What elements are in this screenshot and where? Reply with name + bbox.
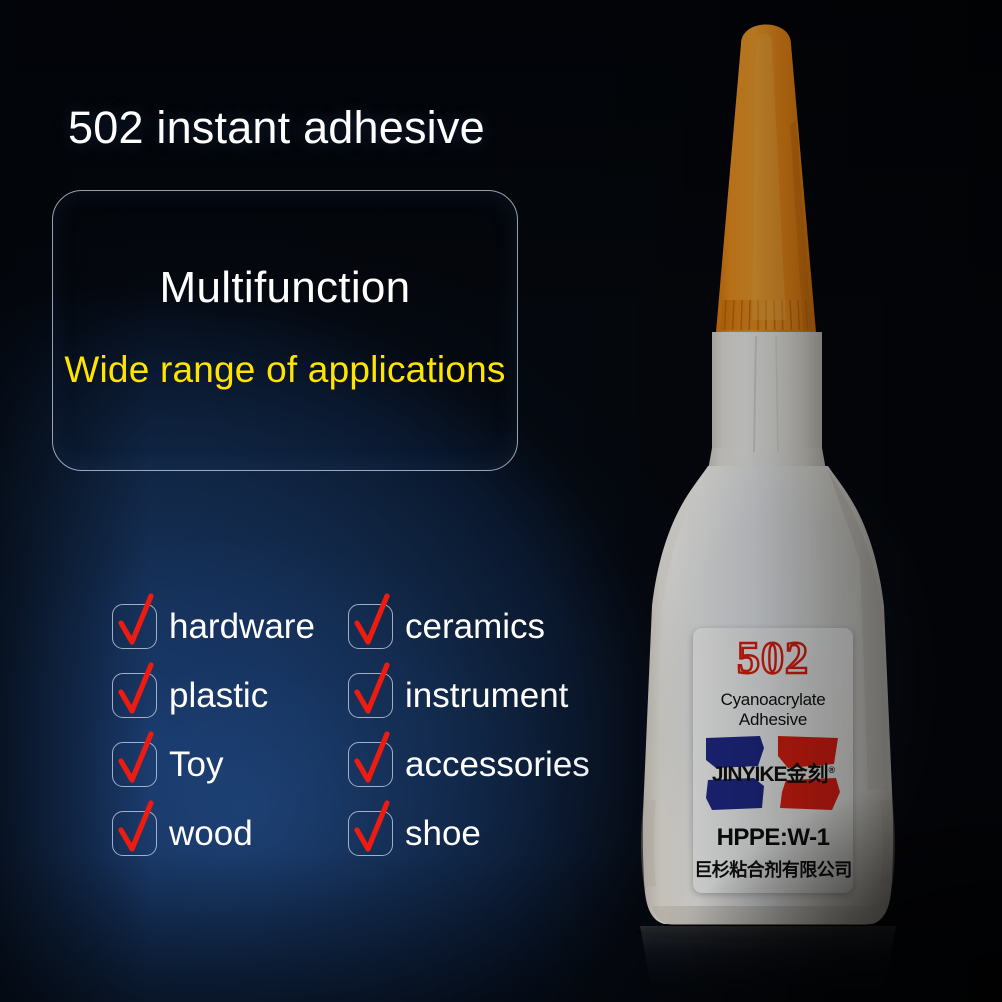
- check-icon: [348, 659, 396, 721]
- check-icon: [112, 590, 160, 652]
- checkbox-ceramics[interactable]: [348, 604, 393, 649]
- checkbox-instrument[interactable]: [348, 673, 393, 718]
- label-brand: JINYIKE金刻®: [693, 758, 853, 788]
- list-item-label: ceramics: [405, 609, 545, 644]
- checkbox-wood[interactable]: [112, 811, 157, 856]
- checklist-column-right: ceramics instrument accessories: [348, 592, 590, 868]
- label-model-code: HPPE:W-1: [693, 824, 853, 852]
- label-adhesive-type: Adhesive: [693, 710, 853, 730]
- list-item[interactable]: shoe: [348, 799, 590, 868]
- check-icon: [112, 728, 160, 790]
- checkbox-plastic[interactable]: [112, 673, 157, 718]
- checkbox-accessories[interactable]: [348, 742, 393, 787]
- feature-callout-box: Multifunction Wide range of applications: [52, 190, 518, 471]
- check-icon: [348, 728, 396, 790]
- page-title: 502 instant adhesive: [68, 102, 485, 154]
- check-icon: [348, 590, 396, 652]
- list-item-label: instrument: [405, 678, 568, 713]
- check-icon: [348, 797, 396, 859]
- list-item[interactable]: Toy: [112, 730, 315, 799]
- brand-chinese: 金刻: [787, 762, 829, 786]
- list-item[interactable]: plastic: [112, 661, 315, 730]
- label-company-name: 巨杉粘合剂有限公司: [693, 856, 853, 882]
- brand-latin: JINYIKE: [712, 763, 787, 786]
- checkbox-shoe[interactable]: [348, 811, 393, 856]
- feature-subtitle: Wide range of applications: [53, 349, 517, 391]
- list-item[interactable]: accessories: [348, 730, 590, 799]
- check-icon: [112, 659, 160, 721]
- product-poster: 502 instant adhesive Multifunction Wide …: [0, 0, 1002, 1002]
- list-item-label: hardware: [169, 609, 315, 644]
- label-chemical-name: Cyanoacrylate: [693, 690, 853, 710]
- checkbox-toy[interactable]: [112, 742, 157, 787]
- list-item[interactable]: instrument: [348, 661, 590, 730]
- product-label: 502 Cyanoacrylate Adhesive JINYIKE金刻® HP…: [693, 628, 853, 893]
- list-item[interactable]: ceramics: [348, 592, 590, 661]
- list-item-label: Toy: [169, 747, 223, 782]
- list-item[interactable]: hardware: [112, 592, 315, 661]
- registered-mark-icon: ®: [829, 765, 835, 775]
- list-item-label: shoe: [405, 816, 481, 851]
- feature-title: Multifunction: [53, 263, 517, 313]
- list-item-label: plastic: [169, 678, 268, 713]
- checkbox-hardware[interactable]: [112, 604, 157, 649]
- check-icon: [112, 797, 160, 859]
- list-item-label: wood: [169, 816, 253, 851]
- label-product-number: 502: [693, 634, 853, 682]
- checklist-column-left: hardware plastic Toy: [112, 592, 315, 868]
- list-item[interactable]: wood: [112, 799, 315, 868]
